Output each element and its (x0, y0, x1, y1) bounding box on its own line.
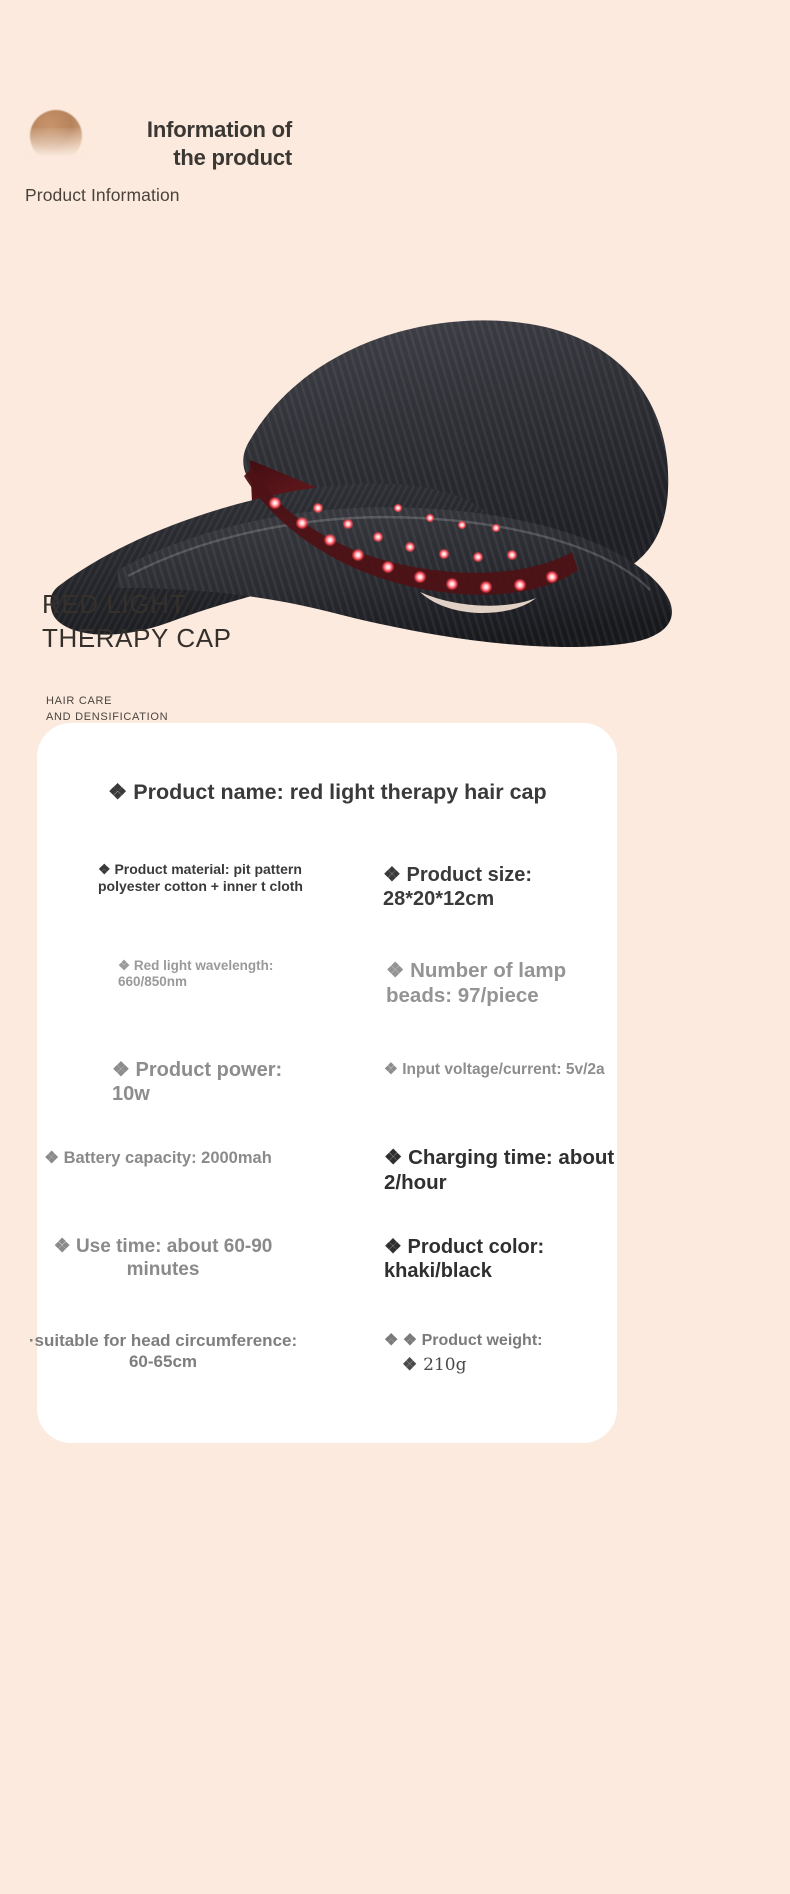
spec-marker-icon: ❖ (384, 1061, 402, 1078)
page-subtitle: Product Information (25, 185, 180, 206)
spec-marker-icon: ❖ (384, 1236, 408, 1258)
hero-subtitle-line-1: HAIR CARE (46, 694, 168, 710)
spec-marker-icon: ❖ (118, 958, 134, 973)
hero-title-line-1: RED LIGHT (42, 588, 232, 622)
spec-battery-capacity: ❖ Battery capacity: 2000mah (18, 1148, 298, 1168)
spec-red-light-wavelength: ❖ Red light wavelength: 660/850nm (118, 958, 318, 991)
spec-product-size: ❖ Product size: 28*20*12cm (383, 863, 623, 912)
spec-number-of-lamp-beads: ❖ Number of lamp beads: 97/piece (386, 958, 636, 1008)
hero-title: RED LIGHT THERAPY CAP (42, 588, 232, 656)
hero-title-line-2: THERAPY CAP (42, 622, 232, 656)
specifications-list: ❖ Product name: red light therapy hair c… (0, 723, 790, 1453)
page-title-line-1: Information of (62, 116, 292, 144)
spec-marker-icon: ❖ (54, 1236, 76, 1257)
spec-charging-time: ❖ Charging time: about 2/hour (384, 1145, 644, 1195)
spec-marker-icon: ❖ (383, 864, 407, 886)
spec-marker-icon: ❖ (98, 861, 114, 877)
spec-use-time: ❖ Use time: about 60-90 minutes (18, 1235, 308, 1281)
spec-product-weight-label: ❖ ❖ Product weight: (384, 1332, 542, 1349)
spec-marker-icon: ❖ (403, 1332, 422, 1349)
page-title: Information of the product (62, 116, 292, 172)
spec-product-weight-value: ❖ 210g (402, 1355, 644, 1376)
hero-subtitle: HAIR CARE AND DENSIFICATION (46, 694, 168, 726)
spec-marker-icon: ❖ (112, 1059, 136, 1081)
spec-marker-icon: ❖ (384, 1332, 403, 1349)
spec-product-name: ❖ Product name: red light therapy hair c… (108, 779, 548, 805)
page-title-line-2: the product (62, 144, 292, 172)
product-info-page: Information of the product Product Infor… (0, 0, 790, 1894)
spec-input-voltage: ❖ Input voltage/current: 5v/2a (384, 1061, 644, 1080)
spec-marker-icon: ❖ (44, 1149, 63, 1167)
spec-product-power: ❖ Product power: 10w (112, 1058, 322, 1107)
spec-marker-icon: ❖ (384, 1146, 408, 1169)
spec-product-weight: ❖ ❖ Product weight: ❖ 210g (384, 1331, 644, 1375)
spec-marker-icon: ❖ (386, 959, 410, 982)
spec-product-color: ❖ Product color: khaki/black (384, 1235, 634, 1284)
spec-product-material: ❖ Product material: pit pattern polyeste… (98, 861, 348, 895)
spec-marker-icon: ❖ (402, 1355, 423, 1375)
spec-head-circumference: ·suitable for head circumference: 60-65c… (18, 1331, 308, 1372)
spec-marker-icon: ❖ (108, 780, 133, 804)
